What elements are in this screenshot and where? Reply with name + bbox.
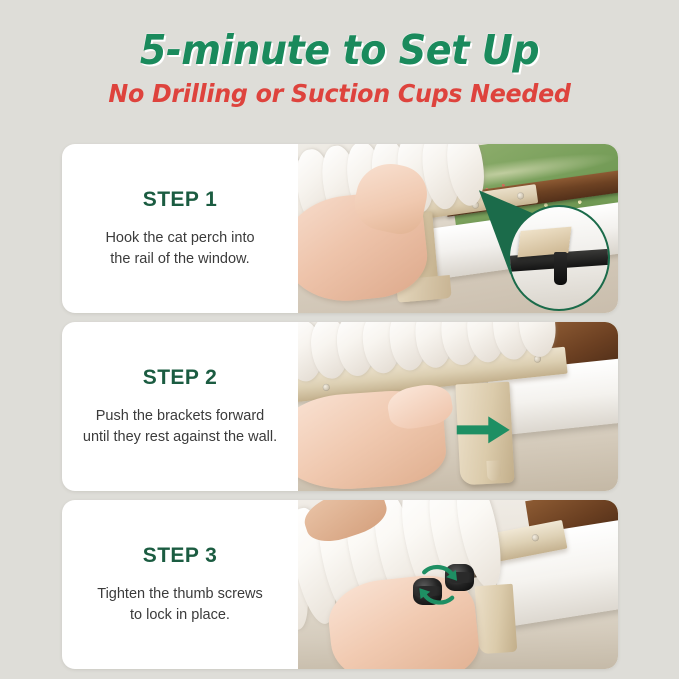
step-1-description: Hook the cat perch into the rail of the … [105, 228, 254, 269]
step-2-label: STEP 2 [143, 366, 217, 390]
step-3-label: STEP 3 [143, 544, 217, 568]
step-1-text-block: STEP 1 Hook the cat perch into the rail … [62, 144, 298, 313]
steps-list: STEP 1 Hook the cat perch into the rail … [62, 144, 618, 678]
page-title: 5-minute to Set Up [24, 30, 655, 71]
step-2-text-block: STEP 2 Push the brackets forward until t… [62, 322, 298, 491]
step-card-1: STEP 1 Hook the cat perch into the rail … [62, 144, 618, 313]
step-3-description: Tighten the thumb screws to lock in plac… [97, 584, 262, 625]
screw-icon [516, 192, 524, 200]
rotation-direction-arrow-icon [394, 554, 484, 615]
step-card-2: STEP 2 Push the brackets forward until t… [62, 322, 618, 491]
step-2-photo [298, 322, 618, 491]
screw-icon [531, 534, 539, 542]
step-2-description: Push the brackets forward until they res… [83, 406, 277, 447]
inset-black-clip [554, 252, 567, 285]
header: 5-minute to Set Up No Drilling or Suctio… [0, 0, 679, 106]
step-card-3: STEP 3 Tighten the thumb screws to lock … [62, 500, 618, 669]
page-subtitle: No Drilling or Suction Cups Needed [17, 81, 662, 106]
step-1-photo [298, 144, 618, 313]
step-1-label: STEP 1 [143, 188, 217, 212]
push-direction-arrow-icon [439, 413, 529, 447]
inset-circle [508, 205, 610, 311]
step-3-photo [298, 500, 618, 669]
bracket-foot [487, 460, 502, 481]
detail-inset [508, 205, 610, 310]
screw-icon [322, 383, 330, 391]
step-3-text-block: STEP 3 Tighten the thumb screws to lock … [62, 500, 298, 669]
